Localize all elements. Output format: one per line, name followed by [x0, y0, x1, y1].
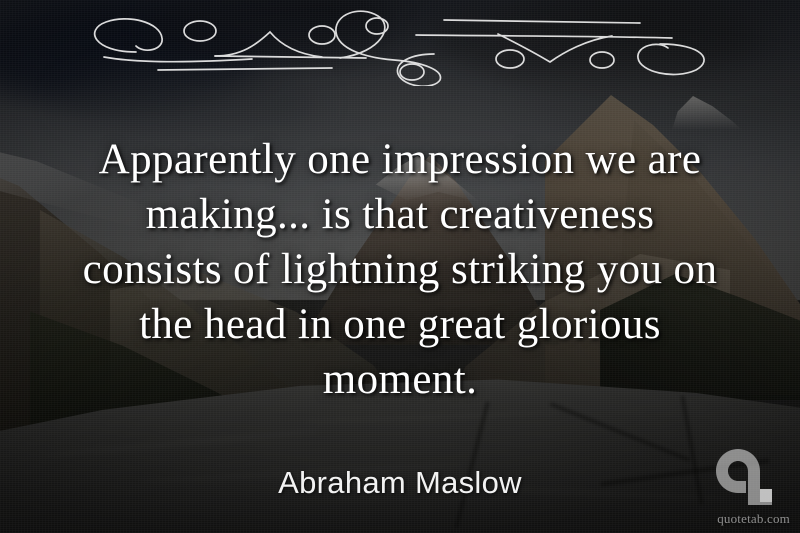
- quote-text: Apparently one impression we are making.…: [40, 132, 760, 407]
- quote-line: moment.: [40, 352, 760, 407]
- quote-card: Apparently one impression we are making.…: [0, 0, 800, 533]
- flourish-ornament-icon: [82, 8, 718, 86]
- watermark-site-text[interactable]: quotetab.com: [717, 511, 790, 527]
- quote-line: making... is that creativeness: [40, 187, 760, 242]
- quote-line: consists of lightning striking you on: [40, 242, 760, 297]
- quote-line: Apparently one impression we are: [40, 132, 760, 187]
- quotetab-logo-icon[interactable]: [716, 449, 774, 505]
- quote-line: the head in one great glorious: [40, 297, 760, 352]
- watermark[interactable]: quotetab.com: [696, 449, 792, 527]
- author-name: Abraham Maslow: [0, 465, 800, 501]
